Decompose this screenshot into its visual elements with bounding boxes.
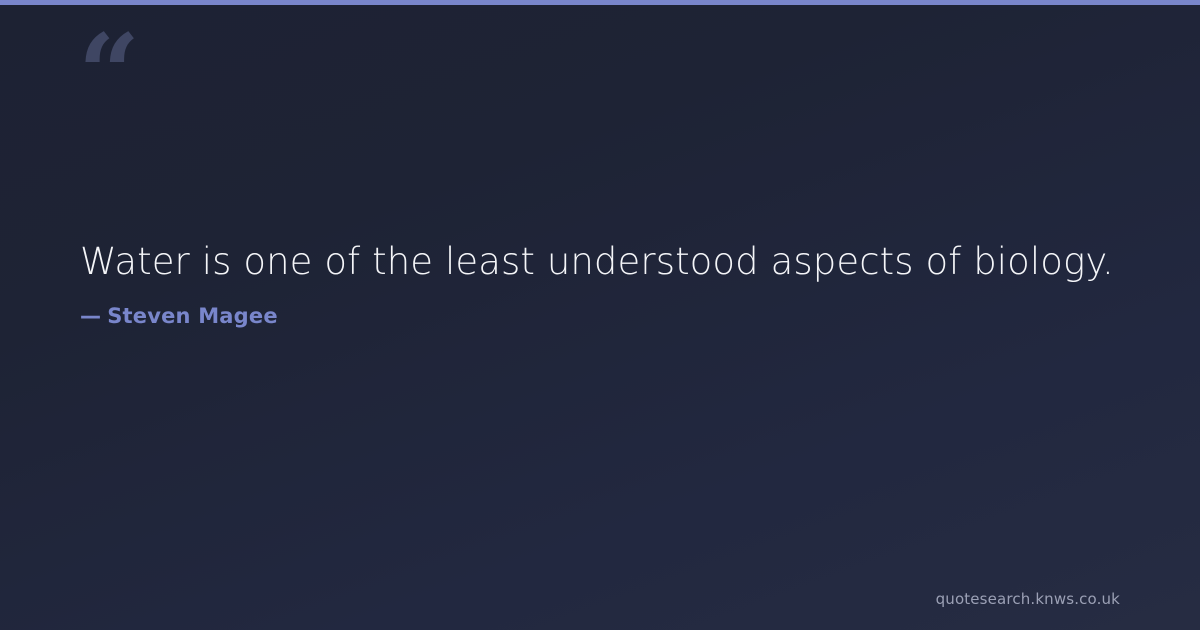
attribution-dash: — — [80, 304, 101, 328]
author-name: Steven Magee — [107, 304, 278, 328]
site-url-footer: quotesearch.knws.co.uk — [936, 590, 1120, 608]
top-accent-bar — [0, 0, 1200, 5]
quote-card: “ Water is one of the least understood a… — [0, 0, 1200, 630]
quote-text: Water is one of the least understood asp… — [80, 238, 1120, 287]
quote-content: Water is one of the least understood asp… — [80, 238, 1120, 328]
quotation-mark-icon: “ — [78, 20, 138, 128]
quote-attribution: —Steven Magee — [80, 304, 1120, 328]
